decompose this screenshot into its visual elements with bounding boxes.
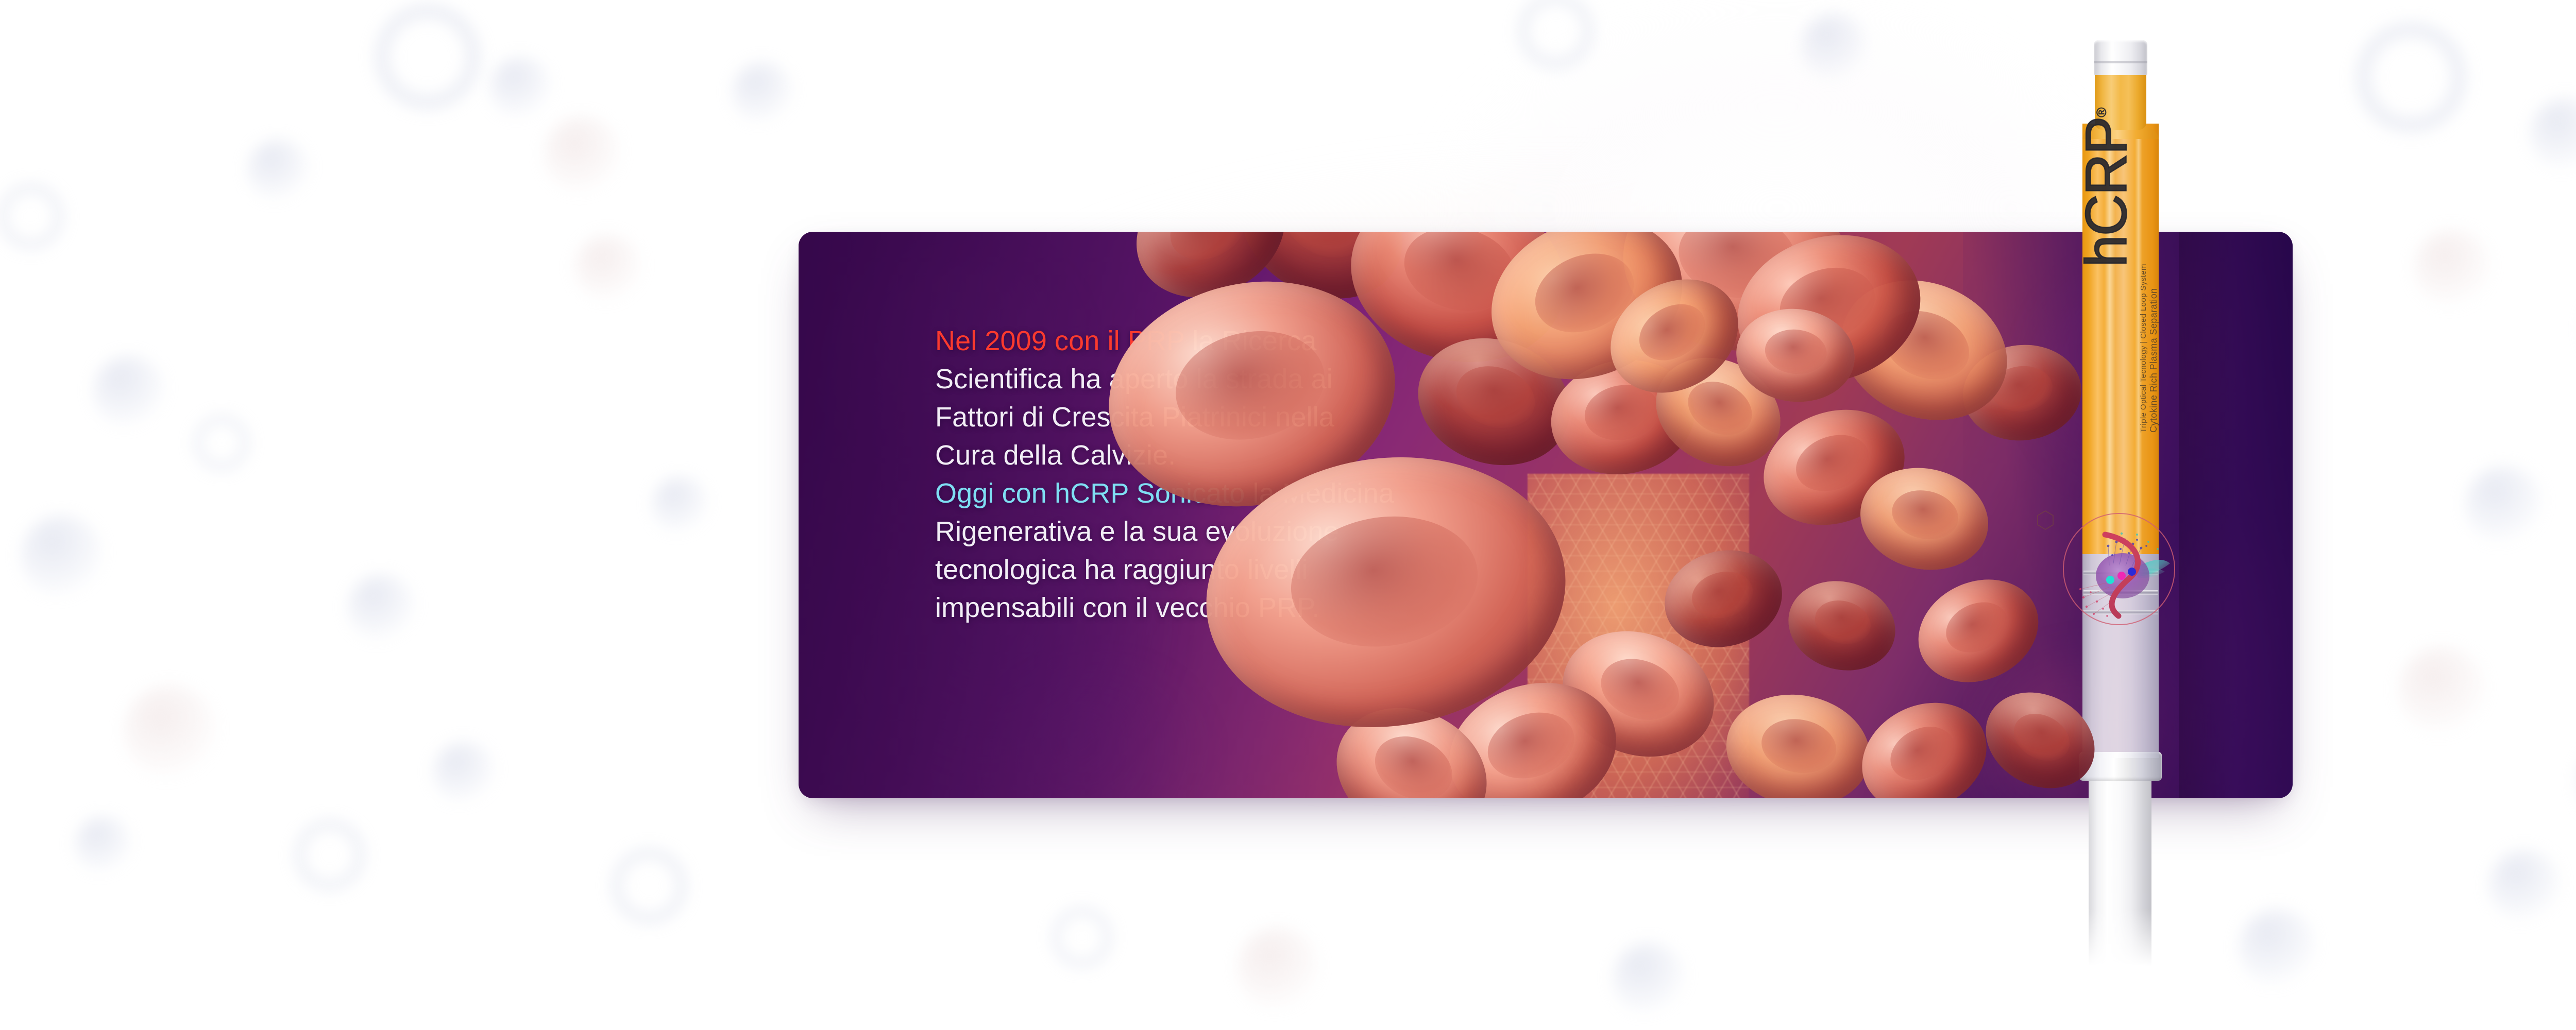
bokeh-circle [2488, 850, 2561, 922]
registered-trademark-icon: ® [2094, 109, 2109, 117]
hcrp-logo-emblem [2060, 510, 2178, 628]
bokeh-circle [2239, 909, 2316, 986]
bokeh-circle [1051, 906, 1113, 968]
bokeh-circle [1613, 942, 1685, 1015]
hexagon-icon [2036, 510, 2055, 530]
bokeh-circle [544, 116, 621, 193]
bokeh-circle [0, 183, 64, 250]
bokeh-circle [652, 476, 708, 533]
bokeh-circle [2398, 646, 2486, 734]
bokeh-circle [75, 816, 131, 873]
brand-wordmark-text: hCRP [2074, 117, 2139, 267]
syringe-plunger-rod [2089, 772, 2151, 971]
emblem-dot-blue [2128, 568, 2136, 576]
brand-tagline-group: Cytokine Rich Plasma Separation Triple O… [2135, 247, 2156, 463]
bokeh-circle [732, 62, 793, 124]
tagline-triple-optical: Triple Optical Tecnology | Closed Loop S… [2139, 264, 2148, 433]
bokeh-circle [348, 574, 415, 641]
hcrp-syringe: hCRP® Cytokine Rich Plasma Separation Tr… [2034, 31, 2204, 958]
bokeh-circle [489, 57, 551, 118]
emblem-dot-magenta [2117, 572, 2126, 580]
bokeh-circle [2465, 466, 2543, 543]
bokeh-circle [294, 819, 366, 891]
bokeh-circle [247, 139, 309, 201]
bokeh-circle [2354, 21, 2468, 134]
bokeh-circle [433, 742, 495, 803]
bokeh-circle [124, 685, 216, 778]
bokeh-circle [2414, 229, 2491, 306]
bokeh-circle [93, 355, 165, 427]
bokeh-circle [21, 515, 103, 597]
bokeh-circle [193, 415, 250, 471]
bokeh-circle [574, 234, 641, 301]
bokeh-circle [1801, 13, 1868, 80]
tagline-cytokine-rich-plasma: Cytokine Rich Plasma Separation [2148, 288, 2159, 433]
brand-wordmark: hCRP® [2073, 54, 2140, 322]
bokeh-circle [1236, 927, 1319, 1009]
bokeh-circle [611, 847, 688, 924]
emblem-dot-cyan [2106, 576, 2114, 584]
blood-cell [1778, 569, 1906, 682]
bokeh-circle [2530, 98, 2576, 170]
bokeh-circle [374, 3, 482, 111]
